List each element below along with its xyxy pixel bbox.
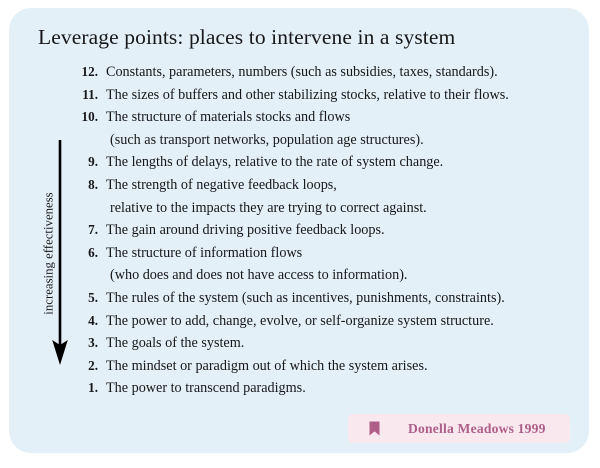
list-item-label: The lengths of delays, relative to the r…	[106, 154, 589, 171]
list-item-label: The power to add, change, evolve, or sel…	[106, 313, 589, 330]
leverage-points-card: Leverage points: places to intervene in …	[9, 8, 589, 453]
list-item-continuation: relative to the impacts they are trying …	[9, 200, 589, 223]
list-item-label: The gain around driving positive feedbac…	[106, 222, 589, 239]
list-item-label: The structure of information flows	[106, 245, 589, 262]
list-item-number: 1.	[9, 380, 106, 396]
list-item: 11.The sizes of buffers and other stabil…	[9, 87, 589, 110]
list-item-label: Constants, parameters, numbers (such as …	[106, 64, 589, 81]
list-item: 1.The power to transcend paradigms.	[9, 380, 589, 403]
attribution-badge: Donella Meadows 1999	[348, 414, 570, 443]
list-item-number: 3.	[9, 335, 106, 351]
list-item-number: 7.	[9, 222, 106, 238]
list-item-label: The mindset or paradigm out of which the…	[106, 358, 589, 375]
list-item-number: 5.	[9, 290, 106, 306]
list-item-continuation: (such as transport networks, population …	[9, 132, 589, 155]
list-item-number: 6.	[9, 245, 106, 261]
list-item: 10.The structure of materials stocks and…	[9, 109, 589, 132]
list-item: 3.The goals of the system.	[9, 335, 589, 358]
leverage-points-list: 12.Constants, parameters, numbers (such …	[9, 64, 589, 403]
list-item: 4.The power to add, change, evolve, or s…	[9, 313, 589, 336]
list-item: 6.The structure of information flows	[9, 245, 589, 268]
list-item: 8.The strength of negative feedback loop…	[9, 177, 589, 200]
list-item-label: The goals of the system.	[106, 335, 589, 352]
list-item-number: 2.	[9, 358, 106, 374]
list-item: 5.The rules of the system (such as incen…	[9, 290, 589, 313]
list-item-label: The strength of negative feedback loops,	[106, 177, 589, 194]
list-item-number: 12.	[9, 64, 106, 80]
list-item-label: The power to transcend paradigms.	[106, 380, 589, 397]
list-item-number: 4.	[9, 313, 106, 329]
list-item: 2.The mindset or paradigm out of which t…	[9, 358, 589, 381]
list-item-continuation-label: (such as transport networks, population …	[106, 132, 589, 149]
list-item-label: The structure of materials stocks and fl…	[106, 109, 589, 126]
list-item-number: 9.	[9, 154, 106, 170]
list-item-continuation-label: relative to the impacts they are trying …	[106, 200, 589, 217]
list-item-number: 11.	[9, 87, 106, 103]
list-item-number: 8.	[9, 177, 106, 193]
list-item: 9.The lengths of delays, relative to the…	[9, 154, 589, 177]
list-item-continuation-label: (who does and does not have access to in…	[106, 267, 589, 284]
list-item: 7.The gain around driving positive feedb…	[9, 222, 589, 245]
list-item-continuation: (who does and does not have access to in…	[9, 267, 589, 290]
list-item: 12.Constants, parameters, numbers (such …	[9, 64, 589, 87]
attribution-text: Donella Meadows 1999	[408, 421, 546, 437]
list-item-label: The rules of the system (such as incenti…	[106, 290, 589, 307]
list-item-label: The sizes of buffers and other stabilizi…	[106, 87, 589, 104]
list-item-number: 10.	[9, 109, 106, 125]
bookmark-icon	[369, 421, 380, 436]
